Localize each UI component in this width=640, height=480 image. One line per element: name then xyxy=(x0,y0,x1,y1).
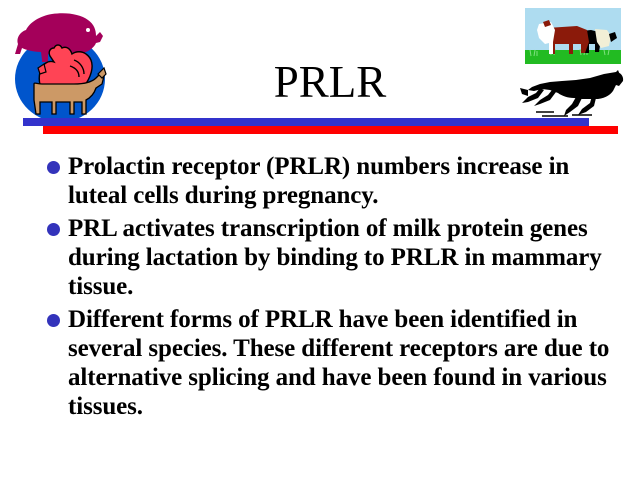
bullet-text: Prolactin receptor (PRLR) numbers increa… xyxy=(68,152,627,210)
divider-bar-red xyxy=(43,126,618,134)
bullet-dot-icon xyxy=(47,314,60,327)
bullet-text: PRL activates transcription of milk prot… xyxy=(68,214,627,301)
logo-pig-eye xyxy=(86,28,90,32)
slide-body: Prolactin receptor (PRLR) numbers increa… xyxy=(47,152,627,425)
slide-title: PRLR xyxy=(140,58,520,106)
livestock-logo xyxy=(8,2,128,124)
cattle-in-pasture-photo xyxy=(525,8,621,64)
horse-body xyxy=(520,70,623,116)
bullet-text: Different forms of PRLR have been identi… xyxy=(68,305,627,421)
galloping-horse-silhouette xyxy=(520,68,626,120)
logo-pig-leg-1 xyxy=(42,52,48,62)
bullet-dot-icon xyxy=(47,223,60,236)
divider-bar-blue xyxy=(23,118,589,126)
bullet-item: Different forms of PRLR have been identi… xyxy=(47,305,627,421)
bullet-item: PRL activates transcription of milk prot… xyxy=(47,214,627,301)
slide-canvas: PRLR xyxy=(0,0,640,480)
slide-header: PRLR xyxy=(0,0,640,136)
bullet-dot-icon xyxy=(47,161,60,174)
bullet-item: Prolactin receptor (PRLR) numbers increa… xyxy=(47,152,627,210)
